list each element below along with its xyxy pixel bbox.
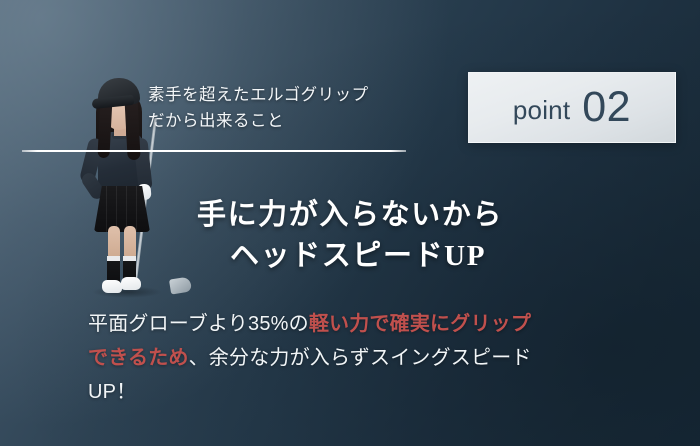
point-badge: point 02 [468,72,676,143]
subheading-line-1: 素手を超えたエルゴグリップ [148,86,369,104]
right-shoe [121,277,141,290]
point-badge-number: 02 [582,86,631,129]
slide-canvas: 素手を超えたエルゴグリップ だから出来ること point 02 手に力が入らない… [0,0,700,446]
body-line-2-accent: できるため [88,347,189,369]
body-line-2: できるため、余分な力が入らずスイングスピード [88,341,628,375]
body-line-1-plain: 平面グローブより35%の [88,313,309,335]
subheading-line-2: だから出来ること [148,112,284,130]
horizontal-divider [22,150,406,152]
headline-line-1: 手に力が入らないから [0,195,700,236]
subheading: 素手を超えたエルゴグリップ だから出来ること [148,82,369,134]
point-badge-word: point [513,97,570,123]
body-line-1: 平面グローブより35%の軽い力で確実にグリップ [88,307,628,341]
body-line-1-accent: 軽い力で確実にグリップ [309,313,531,335]
body-paragraph: 平面グローブより35%の軽い力で確実にグリップ できるため、余分な力が入らずスイ… [88,307,628,409]
left-shoe [102,280,122,293]
main-headline: 手に力が入らないから ヘッドスピードUP [0,195,700,277]
body-line-2-plain: 、余分な力が入らずスイングスピード [189,347,532,369]
headline-line-2: ヘッドスピードUP [0,236,700,277]
body-line-3: UP！ [88,375,628,409]
golf-club-head [169,276,192,294]
